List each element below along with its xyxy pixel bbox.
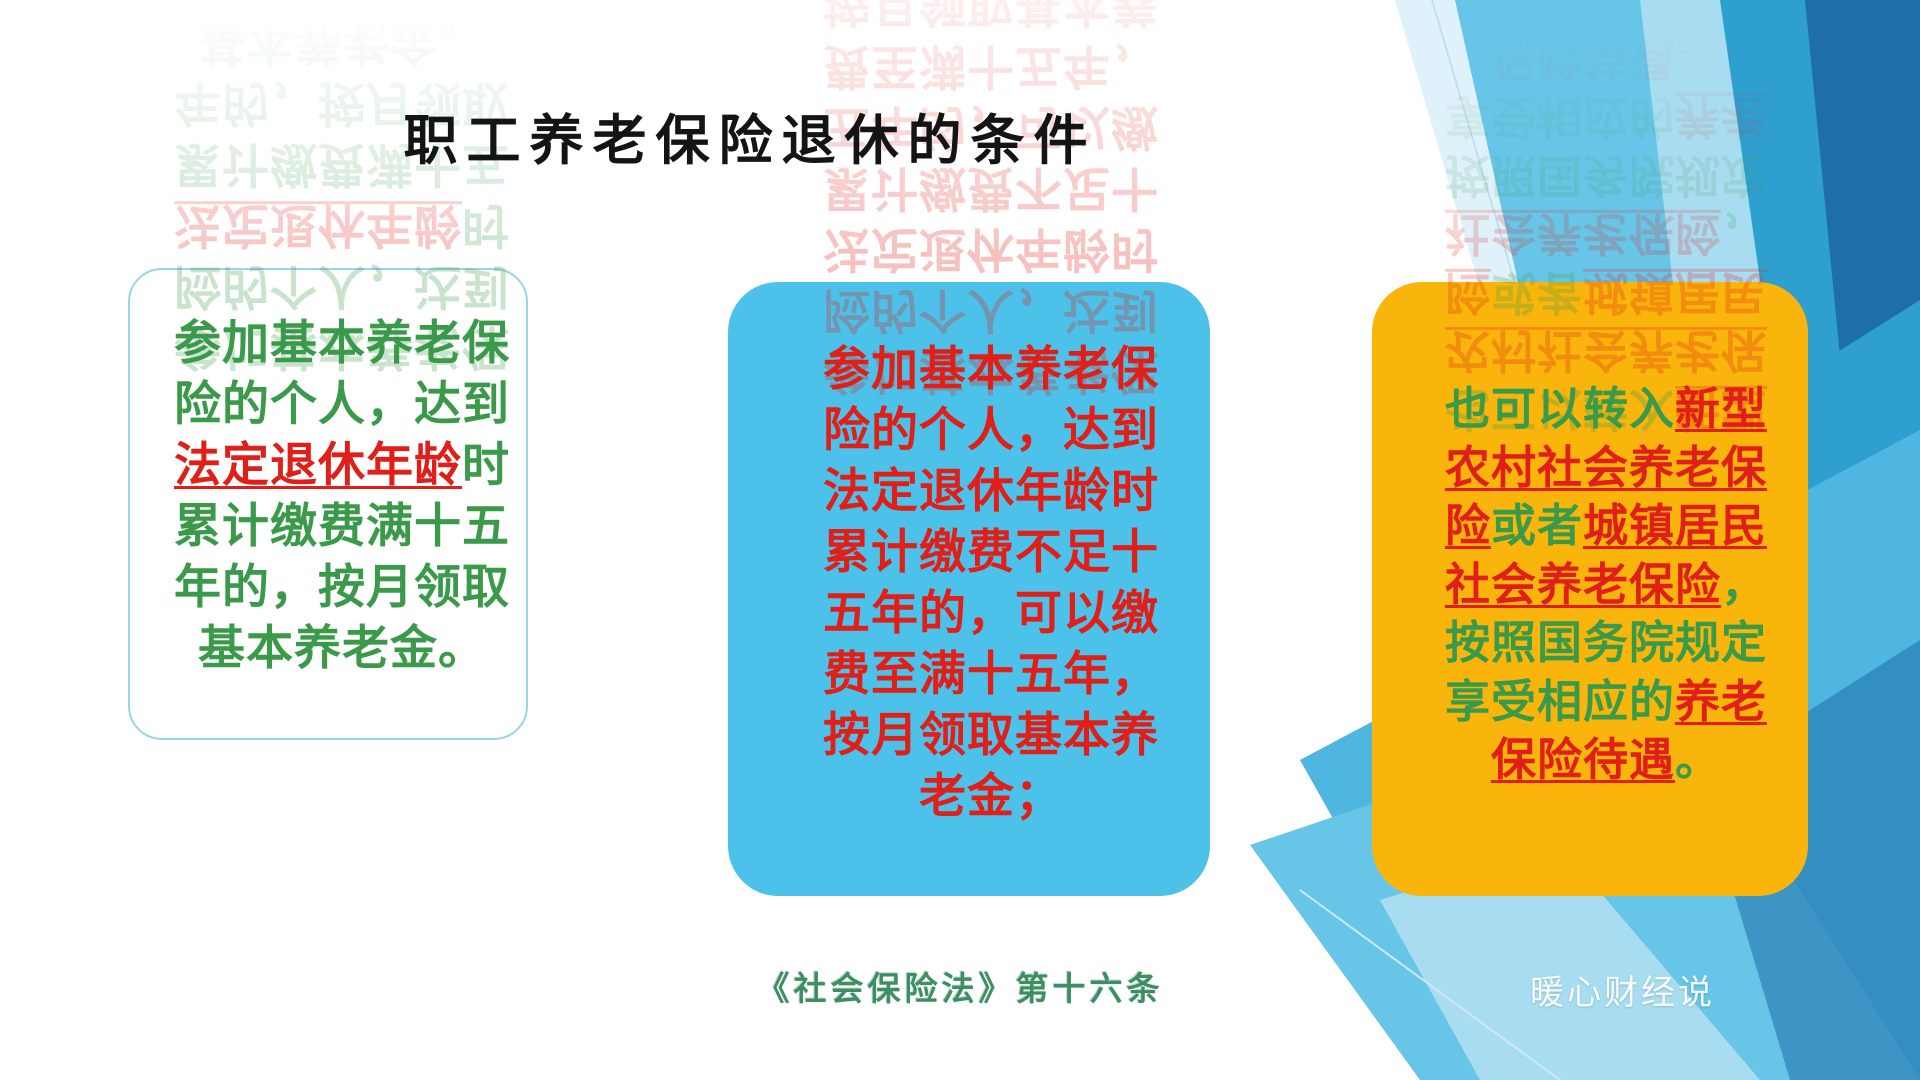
deco-shape-dark-top <box>1805 0 1920 560</box>
body-text: 参加基本养老保 <box>174 316 510 371</box>
card-2-text-wrap: 参加基本养老保险的个人，达到法定退休年龄时累计缴费不足十五年的，可以缴费至满十五… <box>779 345 1159 834</box>
body-text: 参加基本养老保 <box>823 342 1159 397</box>
card-2-line-7: 按月领取基本养 <box>801 705 1181 766</box>
card-2-line-8: 老金； <box>801 766 1181 827</box>
body-text: 按月领取基本养 <box>823 0 1159 31</box>
card-2-line-3: 法定退休年龄时 <box>801 461 1181 522</box>
highlighted-term: 城镇居民 <box>1583 499 1767 552</box>
card-3-line-3: 险或者城镇居民 <box>1429 263 1783 322</box>
card-3-text-reflection: 也可以转入新型农村社会养老保险或者城镇居民社会养老保险，按照国务院规定享受相应的… <box>1413 29 1799 439</box>
highlighted-term: 社会养老保险 <box>1445 208 1721 261</box>
legal-citation: 《社会保险法》第十六条 <box>640 962 1280 1010</box>
body-text: 基本养老金。 <box>198 13 486 68</box>
card-2-line-2: 险的个人，达到 <box>801 279 1181 340</box>
body-text: 享受相应的 <box>1445 675 1675 728</box>
info-card-insufficient-contribution[interactable]: 参加基本养老保险的个人，达到法定退休年龄时累计缴费不足十五年的，可以缴费至满十五… <box>728 282 1210 896</box>
body-text: 五年的，可以缴 <box>823 586 1159 641</box>
body-text: 也可以转入 <box>1445 382 1675 435</box>
card-2-line-6: 费至满十五年， <box>801 34 1181 95</box>
body-text: 基本养老金。 <box>198 621 486 676</box>
card-3-text: 也可以转入新型农村社会养老保险或者城镇居民社会养老保险，按照国务院规定享受相应的… <box>1413 380 1799 790</box>
body-text: 按照国务院规定 <box>1445 616 1767 669</box>
card-3-line-4: 社会养老保险， <box>1429 556 1783 615</box>
body-text: 险的个人，达到 <box>823 403 1159 458</box>
body-text: 险的个人，达到 <box>823 282 1159 337</box>
body-text: 或者 <box>1491 266 1583 319</box>
page-title: 职工养老保险退休的条件 <box>0 96 1500 175</box>
highlighted-term: 保险待遇 <box>1491 32 1675 85</box>
card-1-line-2: 险的个人，达到 <box>160 255 524 316</box>
card-1-text-wrap: 参加基本养老保险的个人，达到法定退休年龄时累计缴费满十五年的，按月领取基本养老金… <box>146 321 510 688</box>
card-1-line-5: 年的，按月领取 <box>160 557 524 618</box>
highlighted-term: 新型 <box>1675 382 1767 435</box>
card-1-line-6: 基本养老金。 <box>160 618 524 679</box>
card-1-line-4: 累计缴费满十五 <box>160 496 524 557</box>
card-2-line-2: 险的个人，达到 <box>801 400 1181 461</box>
card-3-line-7: 保险待遇。 <box>1429 29 1783 88</box>
highlighted-term: 农村社会养老保 <box>1445 325 1767 378</box>
body-text: ， <box>1721 558 1767 611</box>
card-1-line-1: 参加基本养老保 <box>160 313 524 374</box>
card-2-line-1: 参加基本养老保 <box>801 339 1181 400</box>
body-text: 时 <box>462 197 510 252</box>
body-text: 老金； <box>919 769 1063 824</box>
card-2-line-7: 按月领取基本养 <box>801 0 1181 34</box>
highlighted-term: 养老 <box>1675 675 1767 728</box>
card-3-line-7: 保险待遇。 <box>1429 731 1783 790</box>
highlighted-term: 法定退休年龄 <box>174 438 462 493</box>
slide-canvas: 职工养老保险退休的条件 参加基本养老保险的个人，达到法定退休年龄时累计缴费满十五… <box>0 0 1920 1080</box>
watermark-label: 暖心财经说 <box>1530 965 1715 1014</box>
info-card-statutory-retirement[interactable]: 参加基本养老保险的个人，达到法定退休年龄时累计缴费满十五年的，按月领取基本养老金… <box>128 268 528 740</box>
body-text: ， <box>1721 208 1767 261</box>
body-text: 累计缴费不足十 <box>823 525 1159 580</box>
body-text: 费至满十五年， <box>823 647 1159 702</box>
card-1-line-2: 险的个人，达到 <box>160 374 524 435</box>
card-3-line-2: 农村社会养老保 <box>1429 321 1783 380</box>
body-text: 险的个人，达到 <box>174 258 510 313</box>
card-2-line-5: 五年的，可以缴 <box>801 583 1181 644</box>
card-3-text-wrap: 也可以转入新型农村社会养老保险或者城镇居民社会养老保险，按照国务院规定享受相应的… <box>1413 384 1767 794</box>
body-text: 年的，按月领取 <box>174 560 510 615</box>
body-text: 险的个人，达到 <box>174 377 510 432</box>
highlighted-term: 险 <box>1445 266 1491 319</box>
card-2-line-6: 费至满十五年， <box>801 644 1181 705</box>
highlighted-term: 社会养老保险 <box>1445 558 1721 611</box>
body-text: 或者 <box>1491 499 1583 552</box>
body-text: 法定退休年龄时 <box>823 221 1159 276</box>
card-3-line-1: 也可以转入新型 <box>1429 380 1783 439</box>
body-text: 时 <box>462 438 510 493</box>
body-text: 。 <box>1675 733 1721 786</box>
card-3-line-2: 农村社会养老保 <box>1429 439 1783 498</box>
deco-hairline-bottom <box>1300 890 1560 1080</box>
card-3-line-5: 按照国务院规定 <box>1429 614 1783 673</box>
body-text: 累计缴费满十五 <box>174 499 510 554</box>
highlighted-term: 养老 <box>1675 91 1767 144</box>
body-text: 按月领取基本养 <box>823 708 1159 763</box>
card-1-line-6: 基本养老金。 <box>160 10 524 71</box>
highlighted-term: 农村社会养老保 <box>1445 441 1767 494</box>
card-3-line-6: 享受相应的养老 <box>1429 673 1783 732</box>
info-card-transfer-option[interactable]: 也可以转入新型农村社会养老保险或者城镇居民社会养老保险，按照国务院规定享受相应的… <box>1372 282 1808 896</box>
card-1-line-3: 法定退休年龄时 <box>160 194 524 255</box>
card-2-text: 参加基本养老保险的个人，达到法定退休年龄时累计缴费不足十五年的，可以缴费至满十五… <box>779 339 1203 828</box>
body-text: 。 <box>1675 32 1721 85</box>
card-1-line-3: 法定退休年龄时 <box>160 435 524 496</box>
highlighted-term: 保险待遇 <box>1491 733 1675 786</box>
body-text: 法定退休年龄时 <box>823 464 1159 519</box>
card-2-line-3: 法定退休年龄时 <box>801 218 1181 279</box>
card-2-line-4: 累计缴费不足十 <box>801 522 1181 583</box>
highlighted-term: 法定退休年龄 <box>174 197 462 252</box>
card-3-line-4: 社会养老保险， <box>1429 204 1783 263</box>
highlighted-term: 城镇居民 <box>1583 266 1767 319</box>
highlighted-term: 险 <box>1445 499 1491 552</box>
card-3-line-3: 险或者城镇居民 <box>1429 497 1783 556</box>
body-text: 费至满十五年， <box>823 37 1159 92</box>
card-1-text: 参加基本养老保险的个人，达到法定退休年龄时累计缴费满十五年的，按月领取基本养老金… <box>146 313 538 680</box>
